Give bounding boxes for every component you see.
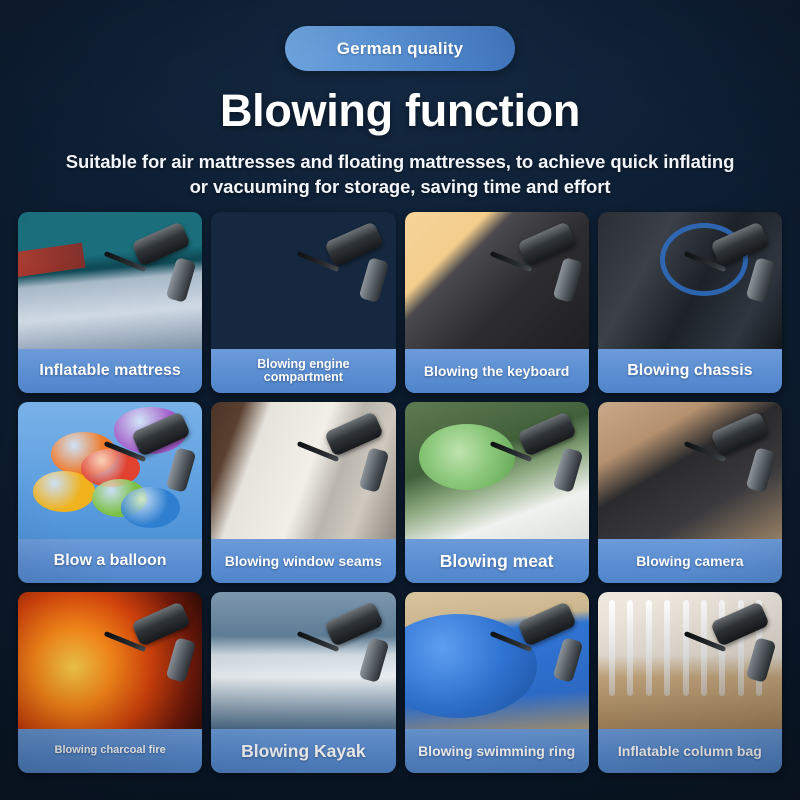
card-photo: [598, 592, 782, 729]
card-label-bar: Blowing charcoal fire: [18, 729, 202, 773]
card-label-text: Blowing the keyboard: [424, 364, 569, 379]
card-label-bar: Blowing window seams: [211, 539, 395, 583]
photo-scene-fire: [18, 592, 202, 729]
card-label-bar: Blow a balloon: [18, 539, 202, 583]
page-title: Blowing function: [0, 85, 800, 137]
promo-page: German quality Blowing function Suitable…: [0, 0, 800, 800]
feature-card[interactable]: Blowing meat: [405, 402, 589, 583]
feature-card-grid: Inflatable mattressBlowing engine compar…: [18, 212, 782, 773]
feature-card[interactable]: Blowing camera: [598, 402, 782, 583]
card-label-bar: Blowing swimming ring: [405, 729, 589, 773]
feature-card[interactable]: Blowing engine compartment: [211, 212, 395, 393]
card-photo: [211, 212, 395, 349]
card-label-text: Inflatable column bag: [618, 744, 762, 759]
feature-card[interactable]: Blowing swimming ring: [405, 592, 589, 773]
card-photo: [405, 212, 589, 349]
card-label-text: Blow a balloon: [54, 553, 167, 570]
column-bag-tube: [627, 600, 633, 696]
photo-scene-chassis: [598, 212, 782, 349]
card-label-text: Blowing Kayak: [241, 742, 365, 760]
balloon-shape: [121, 487, 180, 528]
card-label-bar: Inflatable column bag: [598, 729, 782, 773]
column-bag-tube: [609, 600, 615, 696]
card-photo: [405, 402, 589, 539]
feature-card[interactable]: Blowing the keyboard: [405, 212, 589, 393]
photo-scene-ring: [405, 592, 589, 729]
feature-card[interactable]: Inflatable mattress: [18, 212, 202, 393]
card-photo: [18, 402, 202, 539]
card-label-bar: Inflatable mattress: [18, 349, 202, 393]
card-label-text: Blowing swimming ring: [418, 744, 575, 759]
photo-scene-plant: [405, 402, 589, 539]
badge-row: German quality: [0, 0, 800, 71]
photo-scene-camera: [598, 402, 782, 539]
german-quality-badge[interactable]: German quality: [285, 26, 515, 71]
column-bag-tube: [701, 600, 707, 696]
card-photo: [18, 212, 202, 349]
card-label-bar: Blowing meat: [405, 539, 589, 583]
column-bag-tube: [683, 600, 689, 696]
column-bag-tube: [646, 600, 652, 696]
card-label-text: Blowing engine compartment: [217, 358, 389, 384]
card-label-text: Blowing window seams: [225, 554, 382, 569]
card-label-bar: Blowing the keyboard: [405, 349, 589, 393]
card-photo: [405, 592, 589, 729]
card-photo: [211, 592, 395, 729]
card-label-bar: Blowing Kayak: [211, 729, 395, 773]
photo-scene-engine: [211, 212, 395, 349]
card-label-bar: Blowing chassis: [598, 349, 782, 393]
badge-label: German quality: [337, 39, 464, 59]
photo-scene-mattress: [18, 212, 202, 349]
card-photo: [598, 402, 782, 539]
feature-card[interactable]: Inflatable column bag: [598, 592, 782, 773]
feature-card[interactable]: Blow a balloon: [18, 402, 202, 583]
card-label-bar: Blowing camera: [598, 539, 782, 583]
photo-scene-kayak: [211, 592, 395, 729]
column-bag-tube: [738, 600, 744, 696]
card-photo: [18, 592, 202, 729]
card-label-text: Blowing chassis: [627, 363, 752, 380]
photo-scene-keyboard: [405, 212, 589, 349]
card-label-text: Blowing charcoal fire: [55, 745, 166, 757]
card-photo: [598, 212, 782, 349]
card-photo: [211, 402, 395, 539]
column-bag-tube: [664, 600, 670, 696]
column-bag-tube: [719, 600, 725, 696]
photo-scene-column: [598, 592, 782, 729]
card-label-text: Blowing meat: [440, 552, 554, 570]
feature-card[interactable]: Blowing charcoal fire: [18, 592, 202, 773]
column-bag-tube: [756, 600, 762, 696]
page-subtitle: Suitable for air mattresses and floating…: [0, 150, 800, 199]
balloon-shape: [114, 407, 188, 454]
card-label-text: Inflatable mattress: [39, 363, 180, 380]
card-label-bar: Blowing engine compartment: [211, 349, 395, 393]
feature-card[interactable]: Blowing chassis: [598, 212, 782, 393]
feature-card[interactable]: Blowing Kayak: [211, 592, 395, 773]
feature-card[interactable]: Blowing window seams: [211, 402, 395, 583]
card-label-text: Blowing camera: [636, 554, 743, 569]
photo-scene-window: [211, 402, 395, 539]
photo-scene-balloon: [18, 402, 202, 539]
